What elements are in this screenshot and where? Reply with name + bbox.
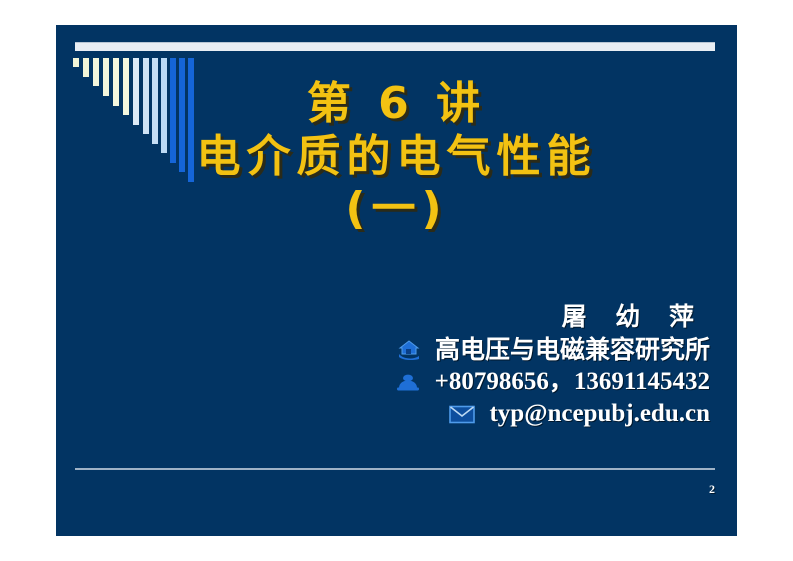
presenter-name-row: 屠 幼 萍	[56, 301, 710, 334]
contact-block: 屠 幼 萍 高电压与电磁兼容研究所	[56, 301, 737, 429]
envelope-icon	[449, 405, 475, 424]
title-line-1: 第 6 讲	[56, 79, 737, 128]
telephone-icon	[396, 372, 420, 392]
house-icon	[397, 339, 421, 361]
phone-row: +80798656，13691145432	[56, 366, 710, 398]
slide-title: 第 6 讲 电介质的电气性能 (一)	[56, 79, 737, 233]
page-number: 2	[709, 482, 715, 497]
bottom-divider-rule	[75, 468, 715, 470]
institute-row: 高电压与电磁兼容研究所	[56, 334, 710, 367]
decoration-bar	[83, 58, 89, 77]
presenter-name: 屠 幼 萍	[562, 302, 704, 331]
email-address: typ@ncepubj.edu.cn	[489, 400, 710, 427]
title-line-3: (一)	[56, 184, 737, 233]
email-row: typ@ncepubj.edu.cn	[56, 398, 710, 430]
phone-number: +80798656，13691145432	[435, 368, 710, 395]
top-divider-rule	[75, 42, 715, 51]
title-line-2: 电介质的电气性能	[56, 132, 737, 181]
institute-name: 高电压与电磁兼容研究所	[435, 335, 710, 364]
slide-page: 第 6 讲 电介质的电气性能 (一) 屠 幼 萍 高电压与电磁兼容研究所	[0, 0, 793, 561]
presentation-slide: 第 6 讲 电介质的电气性能 (一) 屠 幼 萍 高电压与电磁兼容研究所	[56, 25, 737, 536]
decoration-bar	[73, 58, 79, 67]
